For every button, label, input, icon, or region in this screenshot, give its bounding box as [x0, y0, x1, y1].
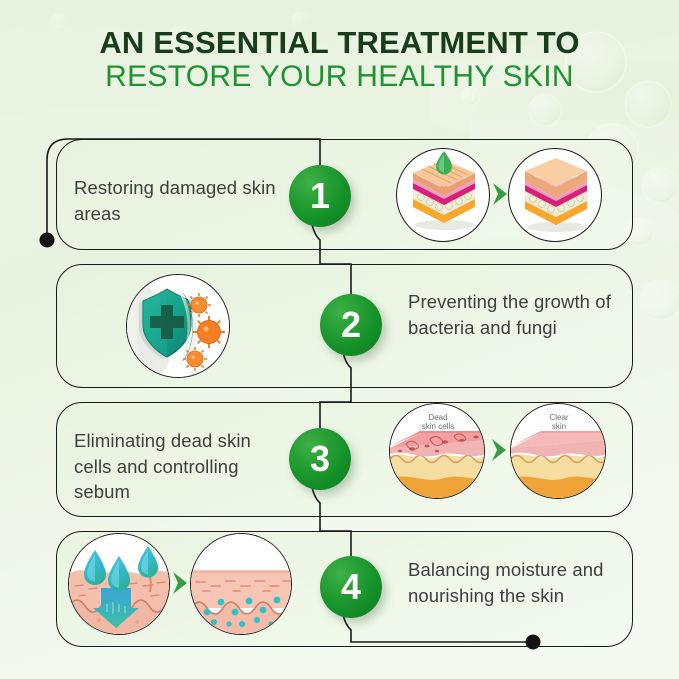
restored-skin-block-icon: [508, 148, 602, 242]
damaged-skin-block-icon: [396, 148, 490, 242]
page-title-line1: AN ESSENTIAL TREATMENT TO: [0, 26, 679, 59]
infographic-root: AN ESSENTIAL TREATMENT TO RESTORE YOUR H…: [0, 0, 679, 679]
step-3-arrow-icon: [489, 437, 511, 463]
dead-skin-label-line2: skin cells: [422, 422, 454, 431]
page-title-line2: RESTORE YOUR HEALTHY SKIN: [0, 59, 679, 94]
step-4-number-badge: 4: [320, 556, 382, 618]
step-2-number-badge: 2: [320, 294, 382, 356]
step-1-number-badge: 1: [289, 165, 351, 227]
hydrated-skin-icon: [190, 533, 292, 635]
step-1-number: 1: [310, 178, 330, 214]
start-dot: [40, 233, 55, 248]
clear-skin-icon: Clear skin: [510, 403, 606, 499]
clear-skin-label-line2: skin: [552, 422, 566, 431]
step-4-text: Balancing moisture and nourishing the sk…: [408, 557, 638, 608]
step-3-text: Eliminating dead skin cells and controll…: [74, 428, 289, 505]
step-3-number-badge: 3: [289, 428, 351, 490]
step-1-text: Restoring damaged skin areas: [74, 175, 289, 226]
step-3-number: 3: [310, 441, 330, 477]
dead-skin-label-line1: Dead: [428, 413, 447, 422]
step-4-number: 4: [341, 569, 361, 605]
dead-skin-cells-icon: Dead skin cells: [389, 403, 485, 499]
header: AN ESSENTIAL TREATMENT TO RESTORE YOUR H…: [0, 0, 679, 122]
protective-shield-icon: [126, 274, 230, 378]
water-droplets-absorbing-icon: [68, 533, 170, 635]
clear-skin-label-line1: Clear: [549, 413, 568, 422]
step-2-text: Preventing the growth of bacteria and fu…: [408, 289, 623, 340]
step-4-arrow-icon: [170, 570, 192, 596]
step-2-number: 2: [341, 307, 361, 343]
